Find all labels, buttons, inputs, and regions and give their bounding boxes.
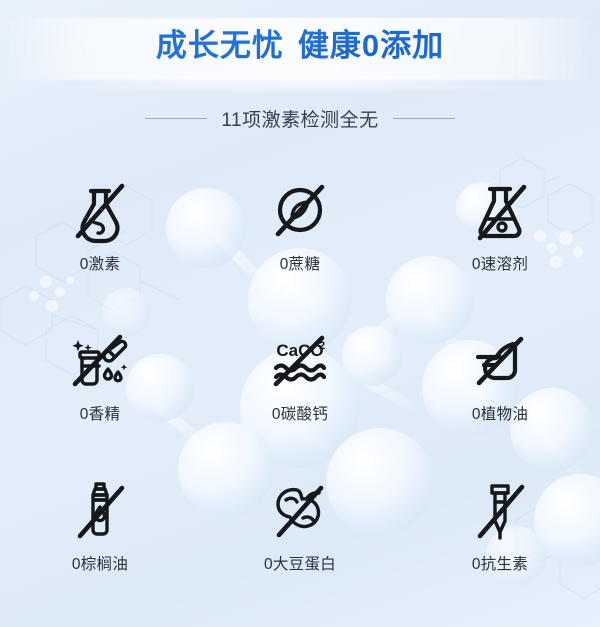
grid-item-label: 0抗生素 [472,552,528,574]
fragrance-dropper-bottle-slashed-icon [62,322,138,398]
free-from-grid: 0激素 0蔗糖 0速溶剂 [0,160,600,604]
grid-item-sucrose: 0蔗糖 [200,160,400,308]
grid-item-label: 0植物油 [472,402,528,424]
grid-item-label: 0速溶剂 [472,252,528,274]
headline-highlight-band-secondary [60,74,540,90]
page-title-part1: 成长无忧 [156,28,284,63]
palm-oil-bottle-slashed-icon [62,472,138,548]
subtitle-row: 11项激素检测全无 [0,105,600,132]
grid-item-label: 0大豆蛋白 [264,552,336,574]
grid-item-vegetable-oil: 0植物油 [400,308,600,456]
promo-poster: 成长无忧健康0添加 11项激素检测全无 0激素 [0,0,600,627]
grid-item-label: 0蔗糖 [280,252,321,274]
subtitle-rule-right [393,118,455,119]
flask-round-slashed-icon [62,172,138,248]
grid-item-hormone: 0激素 [0,160,200,308]
subtitle-text: 11项激素检测全无 [221,105,378,132]
erlenmeyer-flask-slashed-icon [462,172,538,248]
grid-item-label: 0棕榈油 [72,552,128,574]
grid-item-label: 0香精 [80,402,121,424]
grid-item-label: 0激素 [80,252,121,274]
page-title: 成长无忧健康0添加 [0,26,600,66]
soybean-slashed-icon [262,472,338,548]
grid-item-label: 0碳酸钙 [272,402,328,424]
grid-item-fragrance: 0香精 [0,308,200,456]
grid-item-palm-oil: 0棕榈油 [0,456,200,604]
caco3-waves-slashed-icon: CaCO 2 [262,322,338,398]
sugar-leaf-circle-slashed-icon [262,172,338,248]
vegetable-oil-leaf-slashed-icon [462,322,538,398]
grid-item-calcium-carbonate: CaCO 2 0碳酸钙 [200,308,400,456]
grid-item-antibiotics: 0抗生素 [400,456,600,604]
grid-item-instant-solvent: 0速溶剂 [400,160,600,308]
subtitle-rule-left [145,118,207,119]
page-title-part2: 健康0添加 [298,28,444,63]
antibiotic-vial-slashed-icon [462,472,538,548]
grid-item-soy-protein: 0大豆蛋白 [200,456,400,604]
